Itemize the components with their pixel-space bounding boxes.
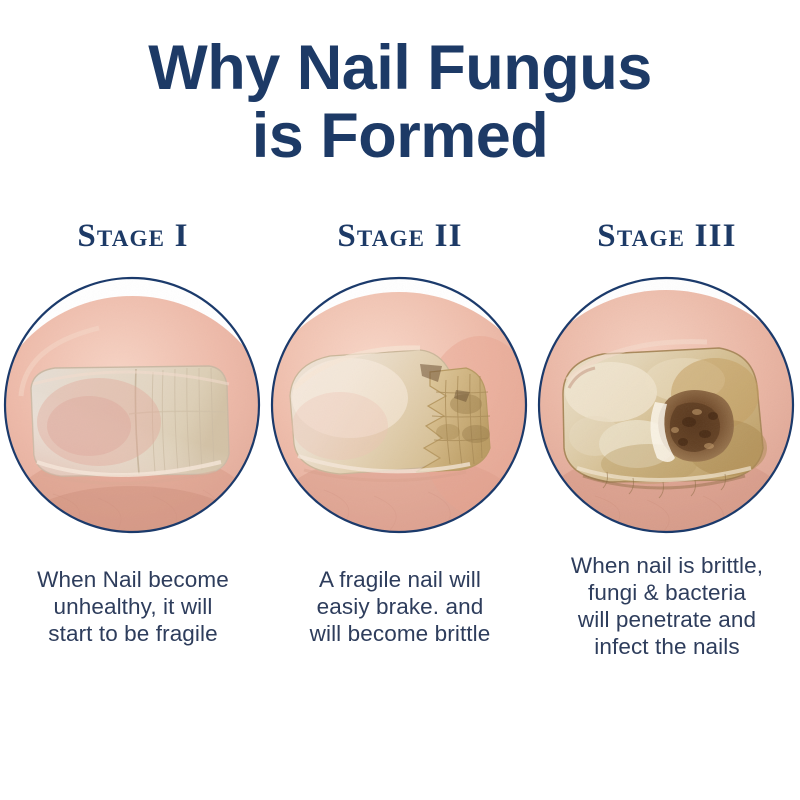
stage-heading-2: Stage II bbox=[267, 218, 533, 255]
stage-caption-3-line-4: infect the nails bbox=[536, 633, 798, 660]
stage-caption-3-line-1: When nail is brittle, bbox=[536, 552, 798, 579]
stage-caption-1-line-1: When Nail become bbox=[2, 566, 264, 593]
nail-photo-stage-1-graphic bbox=[3, 276, 261, 534]
nail-photo-stage-3-graphic bbox=[537, 276, 795, 534]
nail-photo-stage-1 bbox=[3, 276, 261, 534]
stage-caption-1: When Nail become unhealthy, it will star… bbox=[2, 566, 264, 647]
stage-caption-2-line-2: easiy brake. and bbox=[269, 593, 531, 620]
nail-photo-stage-2 bbox=[270, 276, 528, 534]
stage-caption-2-line-3: will become brittle bbox=[269, 620, 531, 647]
stage-caption-2: A fragile nail will easiy brake. and wil… bbox=[269, 566, 531, 647]
stage-heading-1: Stage I bbox=[0, 218, 266, 255]
stage-caption-3-line-2: fungi & bacteria bbox=[536, 579, 798, 606]
stage-list: Stage I bbox=[0, 0, 800, 800]
stage-heading-3: Stage III bbox=[534, 218, 800, 255]
nail-photo-stage-3 bbox=[537, 276, 795, 534]
stage-caption-1-line-3: start to be fragile bbox=[2, 620, 264, 647]
stage-column-3: Stage III bbox=[534, 0, 800, 800]
stage-caption-2-line-1: A fragile nail will bbox=[269, 566, 531, 593]
stage-column-1: Stage I bbox=[0, 0, 266, 800]
stage-caption-1-line-2: unhealthy, it will bbox=[2, 593, 264, 620]
stage-caption-3: When nail is brittle, fungi & bacteria w… bbox=[536, 552, 798, 660]
stage-caption-3-line-3: will penetrate and bbox=[536, 606, 798, 633]
nail-photo-stage-2-graphic bbox=[270, 276, 528, 534]
stage-column-2: Stage II bbox=[267, 0, 533, 800]
